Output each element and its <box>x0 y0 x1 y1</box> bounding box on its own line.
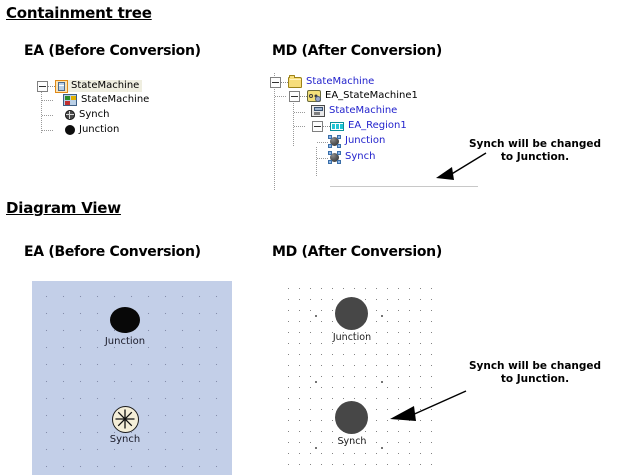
ea-statemachine-diagram-icon <box>63 94 77 106</box>
ea-junction-icon <box>65 125 75 135</box>
ea-diagram-canvas[interactable]: Junction Synch <box>32 281 232 475</box>
selection-handle <box>328 160 332 164</box>
tree-annotation-arrow <box>430 150 490 182</box>
ea-tree-row-synch[interactable]: Synch <box>65 108 109 122</box>
ea-diagram-synch-label: Synch <box>92 434 158 445</box>
ea-tree-label-junction[interactable]: Junction <box>75 124 119 136</box>
tree-rail <box>41 92 42 134</box>
tree-rail <box>316 147 317 177</box>
selection-handle <box>337 135 341 139</box>
containment-tree-heading: Containment tree <box>6 4 152 22</box>
collapse-expander-icon[interactable] <box>289 91 300 102</box>
ea-diagram-junction-label: Junction <box>92 336 158 347</box>
md-diagram-junction-label: Junction <box>318 332 386 343</box>
tree-elbow <box>42 115 53 116</box>
selection-handle <box>328 135 332 139</box>
collapse-expander-icon[interactable] <box>37 81 48 92</box>
md-tree-row-synch[interactable]: Synch <box>328 150 375 164</box>
md-diagram-canvas[interactable]: Junction Synch <box>280 279 442 475</box>
md-tree-label-synch[interactable]: Synch <box>341 151 375 163</box>
md-tree-label-statemachine-diagram[interactable]: StateMachine <box>325 105 397 117</box>
md-junction-sphere-icon <box>328 135 341 148</box>
selection-handle <box>337 151 341 155</box>
md-tree-row-statemachine-folder[interactable]: StateMachine <box>270 75 374 89</box>
md-tree-row-ea-statemachine1[interactable]: EA_StateMachine1 <box>289 89 418 103</box>
md-tree-label-ea-region1[interactable]: EA_Region1 <box>344 120 407 132</box>
md-diagram-junction-shape[interactable] <box>335 297 368 330</box>
selection-handle <box>337 144 341 148</box>
diagram-view-ea-caption: EA (Before Conversion) <box>24 244 201 260</box>
ea-containment-tree[interactable]: StateMachine StateMachine Synch Junction <box>32 78 232 144</box>
md-diagram-synch-shape[interactable] <box>335 401 368 434</box>
tree-elbow <box>294 126 305 127</box>
tree-rail <box>274 87 275 190</box>
ea-tree-row-junction[interactable]: Junction <box>65 123 119 137</box>
ea-tree-label-synch[interactable]: Synch <box>75 109 109 121</box>
ea-synch-icon <box>65 110 75 120</box>
ea-tree-label-statemachine-root[interactable]: StateMachine <box>68 80 142 92</box>
ea-package-icon <box>55 80 68 93</box>
tree-connector <box>48 86 55 87</box>
md-region-icon <box>330 122 344 131</box>
md-tree-label-statemachine-folder[interactable]: StateMachine <box>302 76 374 88</box>
tree-elbow <box>317 158 328 159</box>
ea-diagram-junction-shape[interactable] <box>110 307 140 333</box>
md-tree-row-ea-region1[interactable]: EA_Region1 <box>312 119 407 133</box>
diagram-view-heading: Diagram View <box>6 199 121 217</box>
tree-elbow <box>42 100 53 101</box>
tree-connector <box>323 126 330 127</box>
tree-elbow <box>294 112 305 113</box>
collapse-expander-icon[interactable] <box>270 77 281 88</box>
selection-handle <box>328 144 332 148</box>
md-diagram-synch-label: Synch <box>318 436 386 447</box>
diagram-annotation-text: Synch will be changed to Junction. <box>447 360 623 386</box>
md-tree-row-statemachine-diagram[interactable]: StateMachine <box>311 104 397 118</box>
md-tree-label-junction[interactable]: Junction <box>341 135 385 147</box>
containment-tree-md-caption: MD (After Conversion) <box>272 43 442 59</box>
synch-asterisk-icon <box>113 407 137 431</box>
diagram-annotation-arrow <box>380 388 470 426</box>
ea-tree-row-statemachine-root[interactable]: StateMachine <box>37 79 142 93</box>
tree-elbow <box>275 96 286 97</box>
collapse-expander-icon[interactable] <box>312 121 323 132</box>
selection-handle <box>328 151 332 155</box>
selection-handle <box>337 160 341 164</box>
md-statemachine-icon <box>307 90 321 102</box>
ea-tree-row-statemachine-child[interactable]: StateMachine <box>63 93 149 107</box>
md-statemachine-diagram-icon <box>311 105 325 117</box>
md-tree-bottom-divider <box>330 186 478 187</box>
diagram-view-md-caption: MD (After Conversion) <box>272 244 442 260</box>
md-tree-label-ea-statemachine1[interactable]: EA_StateMachine1 <box>321 90 418 102</box>
tree-connector <box>300 96 307 97</box>
tree-rail <box>293 103 294 147</box>
md-synch-sphere-icon <box>328 151 341 164</box>
tree-elbow <box>42 130 53 131</box>
tree-elbow <box>317 142 328 143</box>
md-tree-row-junction[interactable]: Junction <box>328 134 385 148</box>
ea-diagram-synch-shape[interactable] <box>112 406 139 433</box>
md-folder-icon <box>288 77 302 88</box>
ea-tree-label-statemachine-child[interactable]: StateMachine <box>77 94 149 106</box>
tree-connector <box>281 82 288 83</box>
containment-tree-ea-caption: EA (Before Conversion) <box>24 43 201 59</box>
